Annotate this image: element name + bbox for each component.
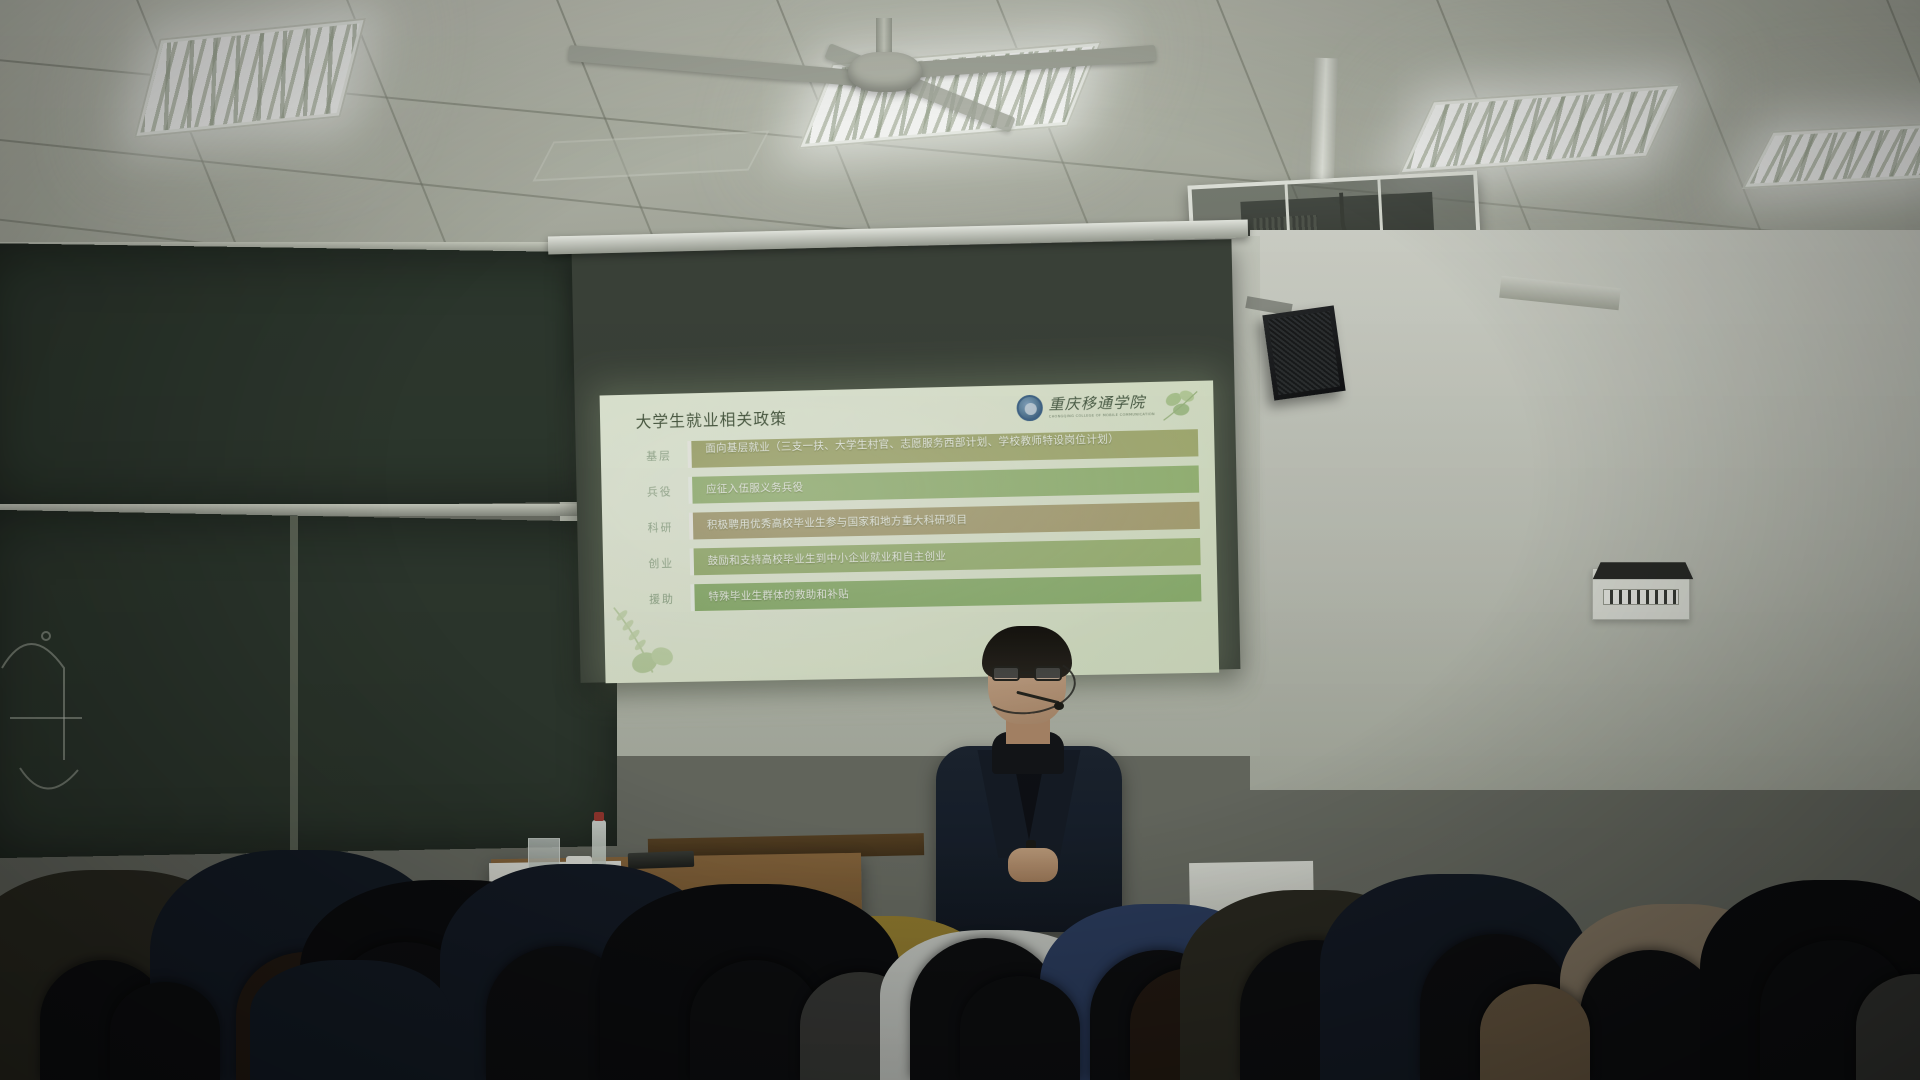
institution-name-cn: 重庆移通学院	[1048, 394, 1154, 412]
policy-row-bar: 面向基层就业（三支一扶、大学生村官、志愿服务西部计划、学校教师特设岗位计划）	[687, 429, 1198, 468]
projector-mount-pole	[1310, 58, 1338, 185]
policy-row-label: 基层	[630, 447, 688, 464]
slide-title: 大学生就业相关政策	[635, 405, 787, 433]
institution-logo: 重庆移通学院 CHONGQING COLLEGE OF MOBILE COMMU…	[1016, 392, 1155, 421]
policy-row-label: 兵役	[631, 482, 689, 499]
electrical-panel	[1592, 568, 1690, 620]
policy-row-text: 积极聘用优秀高校毕业生参与国家和地方重大科研项目	[707, 514, 968, 533]
wall-speaker	[1262, 305, 1345, 400]
ceiling-fan	[700, 18, 1060, 114]
policy-row-text: 应征入伍服义务兵役	[706, 481, 804, 496]
policy-row-bar: 特殊毕业生群体的救助和补贴	[690, 574, 1201, 611]
policy-row-bar: 鼓励和支持高校毕业生到中小企业就业和自主创业	[690, 538, 1201, 575]
policy-row-text: 特殊毕业生群体的救助和补贴	[708, 588, 849, 604]
policy-row-label: 科研	[632, 518, 690, 535]
policy-row-label: 创业	[632, 554, 690, 571]
policy-row: 兵役 应征入伍服义务兵役	[631, 465, 1199, 505]
policy-row-bar: 积极聘用优秀高校毕业生参与国家和地方重大科研项目	[689, 502, 1200, 540]
policy-row: 基层 面向基层就业（三支一扶、大学生村官、志愿服务西部计划、学校教师特设岗位计划…	[630, 429, 1198, 469]
policy-row-text: 面向基层就业（三支一扶、大学生村官、志愿服务西部计划、学校教师特设岗位计划）	[705, 431, 1198, 456]
audience	[0, 660, 1920, 1080]
policy-row-text: 鼓励和支持高校毕业生到中小企业就业和自主创业	[708, 550, 947, 568]
policy-row-list: 基层 面向基层就业（三支一扶、大学生村官、志愿服务西部计划、学校教师特设岗位计划…	[630, 429, 1202, 621]
lecture-hall-photo: 大学生就业相关政策 重庆移通学院 CHONGQING COLLEGE OF MO…	[0, 0, 1920, 1080]
policy-row-bar: 应征入伍服义务兵役	[688, 465, 1199, 503]
policy-row: 援助 特殊毕业生群体的救助和补贴	[633, 574, 1201, 612]
policy-row: 科研 积极聘用优秀高校毕业生参与国家和地方重大科研项目	[632, 502, 1200, 541]
university-emblem-icon	[1016, 395, 1043, 422]
leaf-decoration-icon	[1158, 387, 1203, 422]
policy-row: 创业 鼓励和支持高校毕业生到中小企业就业和自主创业	[632, 538, 1200, 577]
